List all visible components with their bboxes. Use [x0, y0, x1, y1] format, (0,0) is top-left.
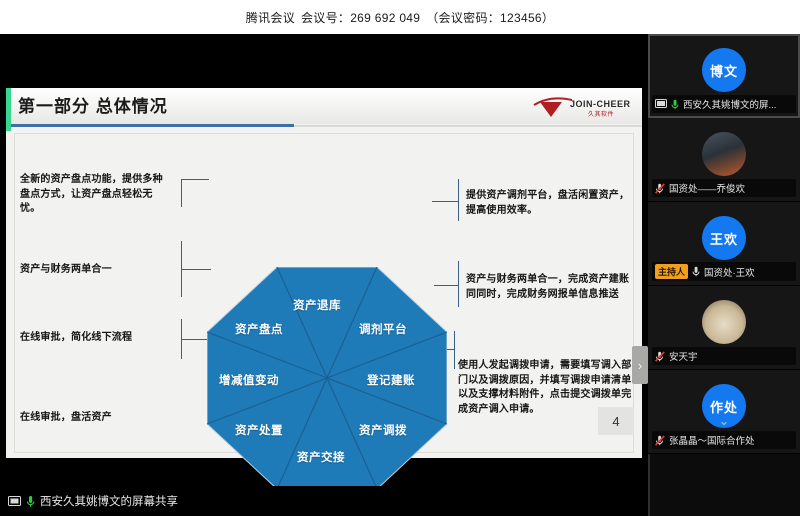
- callout-left-2: 在线审批，简化线下流程: [20, 331, 178, 346]
- avatar: [702, 300, 746, 344]
- avatar: 博文: [702, 48, 746, 92]
- participants-rail[interactable]: 博文 西安久其姚博文: [648, 34, 800, 516]
- octagon-segment-2: 登记建账: [367, 372, 415, 388]
- logo-wordmark: JOIN-CHEER: [570, 99, 631, 109]
- connector-line-r1: [458, 179, 459, 221]
- next-slide-button[interactable]: ›: [632, 346, 648, 384]
- connector-line-r3: [454, 331, 455, 369]
- share-status-bar: 西安久其姚博文的屏幕共享: [0, 486, 648, 516]
- participant-tile-1[interactable]: 国资处——乔俊欢: [648, 118, 800, 202]
- company-logo: JOIN-CHEER 久其软件: [532, 93, 632, 121]
- meeting-window: 腾讯会议会议号：269 692 049（会议密码：123456） 第一部分 总体…: [0, 0, 800, 516]
- callout-left-3: 在线审批，盘活资产: [20, 411, 178, 426]
- microphone-on-icon: [26, 495, 35, 508]
- participant-name: 安天宇: [669, 349, 698, 363]
- avatar: [702, 132, 746, 176]
- participant-name-row-1: 国资处——乔俊欢: [652, 179, 796, 197]
- octagon-segment-1: 调剂平台: [359, 321, 407, 337]
- octagon-segment-3: 资产调拨: [359, 422, 407, 438]
- meeting-password: （会议密码：123456）: [426, 11, 554, 25]
- callout-left-0: 全新的资产盘点功能，提供多种盘点方式，让资产盘点轻松无忧。: [20, 173, 172, 217]
- participant-tile-4[interactable]: 作处 ⌄ 张晶晶～国际合作处: [648, 370, 800, 454]
- callout-left-1: 资产与财务两单合一: [20, 263, 178, 278]
- screen-share-icon: [8, 496, 21, 507]
- octagon-segment-6: 增减值变动: [219, 372, 279, 388]
- meeting-id-value: 269 692 049: [350, 11, 420, 25]
- meeting-app-name: 腾讯会议: [246, 11, 295, 25]
- microphone-muted-icon: [655, 351, 665, 362]
- participant-tile-2[interactable]: 王欢 主持人 国资处·王欢: [648, 202, 800, 286]
- microphone-muted-icon: [655, 183, 665, 194]
- octagon-diagram: 资产退库 调剂平台 登记建账 资产调拨 资产交接 资产处置 增减值变动 资产盘点: [207, 267, 447, 486]
- participant-name-row-4: 张晶晶～国际合作处: [652, 431, 796, 449]
- slide-title: 第一部分 总体情况: [18, 92, 168, 117]
- microphone-on-icon: [692, 266, 700, 277]
- participant-name-row-3: 安天宇: [652, 347, 796, 365]
- slide-page-number: 4: [598, 407, 634, 435]
- meeting-info-bar: 腾讯会议会议号：269 692 049（会议密码：123456）: [0, 0, 800, 34]
- presentation-slide: 第一部分 总体情况 JOIN-CHEER 久其软件: [6, 88, 642, 458]
- connector-line-l1: [181, 179, 182, 207]
- meeting-info-text: 腾讯会议会议号：269 692 049（会议密码：123456）: [246, 9, 554, 26]
- octagon-segment-4: 资产交接: [297, 449, 345, 465]
- chevron-down-icon[interactable]: ⌄: [719, 413, 730, 429]
- octagon-segment-7: 资产盘点: [235, 321, 283, 337]
- callout-right-0: 提供资产调剂平台，盘活闲置资产，提高使用效率。: [466, 189, 630, 218]
- meeting-stage: 第一部分 总体情况 JOIN-CHEER 久其软件: [0, 34, 800, 516]
- connector-line-r1b: [432, 201, 459, 202]
- participant-tile-3[interactable]: 安天宇: [648, 286, 800, 370]
- participant-name: 国资处——乔俊欢: [669, 181, 745, 195]
- connector-line-l1b: [181, 179, 209, 180]
- microphone-on-icon: [671, 99, 679, 110]
- slide-title-underline: [11, 124, 294, 127]
- microphone-muted-icon: [655, 435, 665, 446]
- avatar: 王欢: [702, 216, 746, 260]
- screen-share-icon: [655, 99, 667, 109]
- octagon-segment-5: 资产处置: [235, 422, 283, 438]
- meeting-id-label: 会议号：: [301, 11, 350, 25]
- participant-name: 西安久其姚博文的屏...: [683, 97, 776, 111]
- participant-name-row-0: 西安久其姚博文的屏...: [652, 95, 796, 113]
- connector-line-l3b: [181, 339, 209, 340]
- logo-subtext: 久其软件: [588, 109, 614, 118]
- share-status-label: 西安久其姚博文的屏幕共享: [40, 493, 178, 509]
- participant-name: 国资处·王欢: [704, 265, 755, 279]
- participant-tile-0[interactable]: 博文 西安久其姚博文: [648, 34, 800, 118]
- connector-line-r2: [458, 261, 459, 307]
- participant-name-row-2: 主持人 国资处·王欢: [652, 262, 796, 281]
- slide-title-underline-secondary: [294, 125, 642, 127]
- octagon-segment-0: 资产退库: [293, 297, 341, 313]
- shared-screen-area[interactable]: 第一部分 总体情况 JOIN-CHEER 久其软件: [0, 88, 648, 486]
- participant-name: 张晶晶～国际合作处: [669, 433, 755, 447]
- callout-right-1: 资产与财务两单合一，完成资产建账同同时，完成财务网报单信息推送: [466, 273, 630, 302]
- host-badge: 主持人: [655, 264, 688, 279]
- slide-body: 资产退库 调剂平台 登记建账 资产调拨 资产交接 资产处置 增减值变动 资产盘点…: [6, 131, 642, 458]
